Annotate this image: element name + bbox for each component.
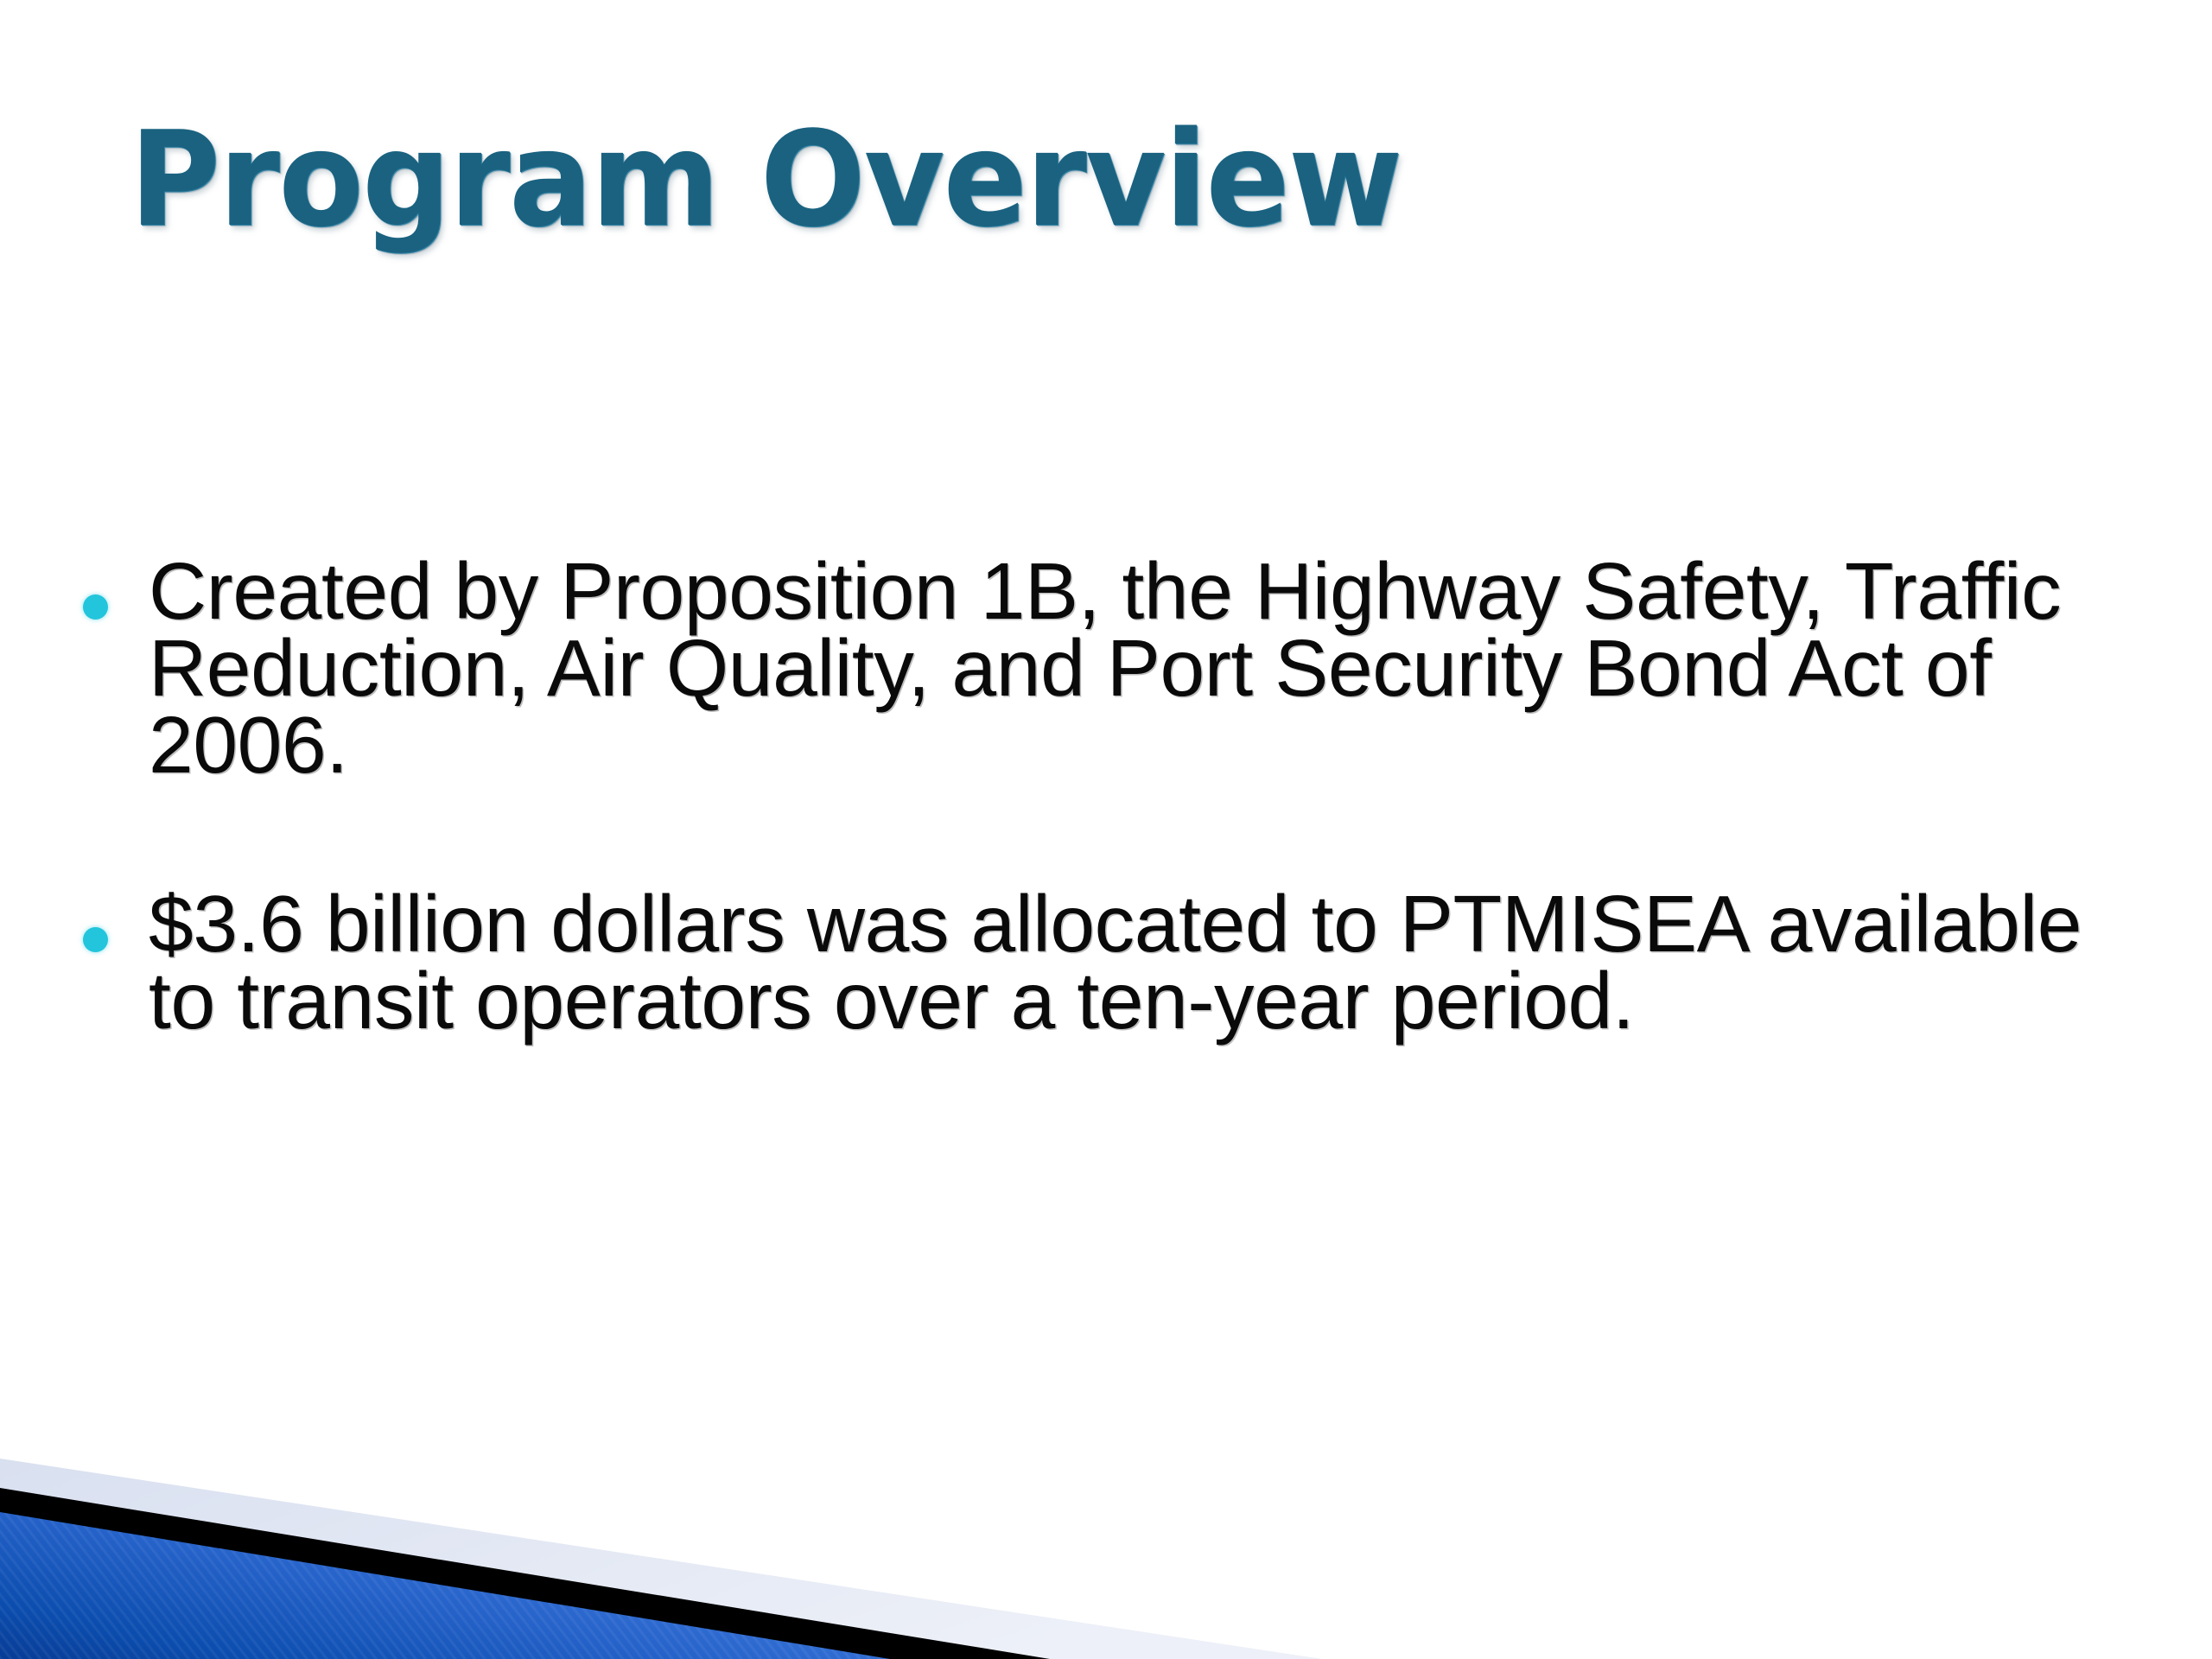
list-item: Created by Proposition 1B, the Highway S… [52, 553, 2160, 784]
ribbon-band-black [0, 1488, 1050, 1659]
ribbon-band-blue [0, 1512, 890, 1659]
bullet-dot-icon [83, 927, 108, 952]
bullet-text: $3.6 billion dollars was allocated to PT… [149, 886, 2160, 1039]
list-item: $3.6 billion dollars was allocated to PT… [52, 886, 2160, 1039]
bullet-text: Created by Proposition 1B, the Highway S… [149, 553, 2160, 784]
page-title: Program Overview [130, 102, 1981, 257]
corner-decoration-graphic [0, 1357, 1417, 1659]
content-placeholder: Created by Proposition 1B, the Highway S… [52, 553, 2160, 1039]
ribbon-band-blue-texture [0, 1512, 890, 1659]
ribbon-band-light [0, 1459, 1322, 1659]
bullet-dot-icon [83, 594, 108, 620]
diagonal-ribbon-svg [0, 1357, 1417, 1659]
slide-canvas: Program Overview Created by Proposition … [0, 0, 2212, 1659]
title-placeholder: Program Overview [130, 102, 2100, 275]
